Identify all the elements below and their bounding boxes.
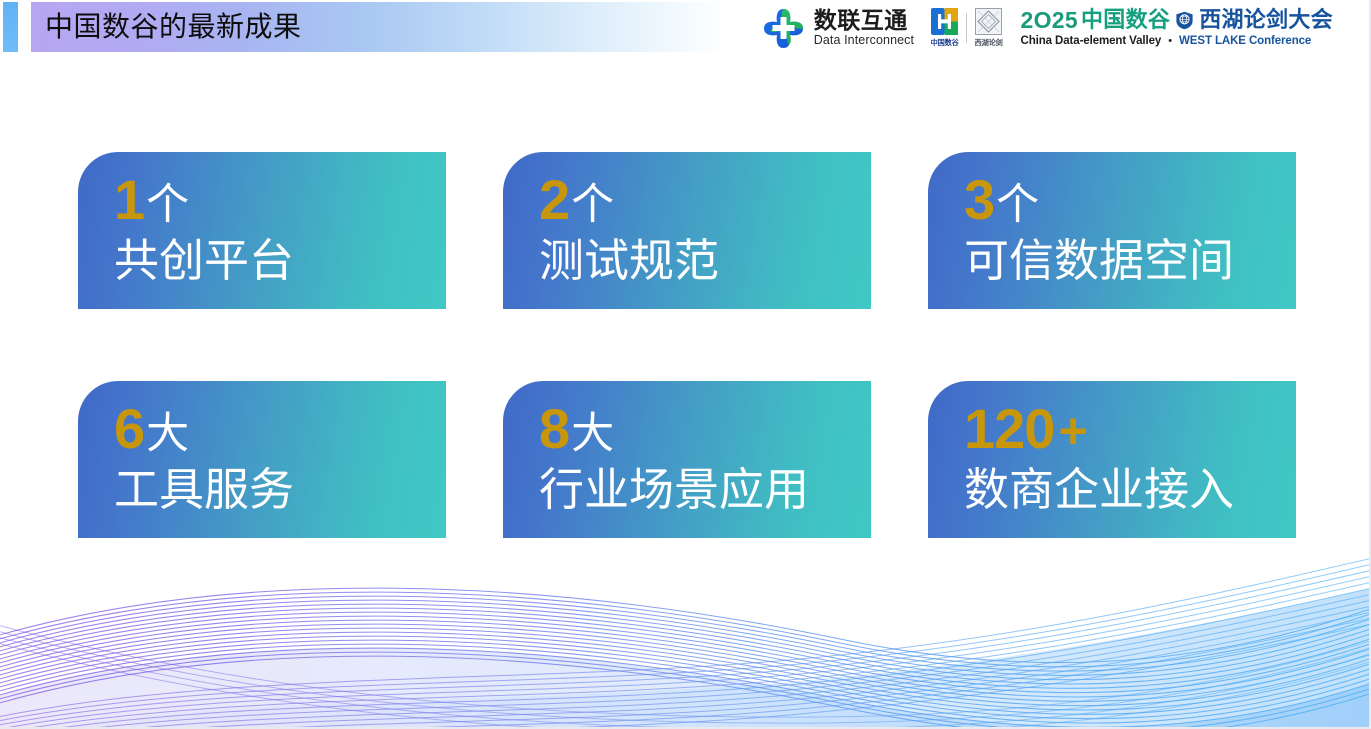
card-number-row: 1 个 bbox=[114, 172, 446, 228]
card-number-row: 6 大 bbox=[114, 401, 446, 457]
conference-subtitle-row: China Data-element Valley • WEST LAKE Co… bbox=[1021, 36, 1333, 48]
card-unit: + bbox=[1058, 406, 1087, 456]
card-label: 可信数据空间 bbox=[964, 236, 1296, 286]
card-label: 数商企业接入 bbox=[964, 465, 1296, 515]
di-name-en: Data Interconnect bbox=[814, 34, 914, 47]
card-label: 行业场景应用 bbox=[539, 465, 871, 515]
conference-title-row: 2O25 中国数谷 西湖论剑大会 bbox=[1021, 9, 1333, 32]
card-number-row: 120 + bbox=[964, 401, 1296, 457]
conference-subtitle-separator: • bbox=[1168, 36, 1172, 47]
conference-title-cn-2: 西湖论剑大会 bbox=[1199, 9, 1333, 31]
conference-year: 2O25 bbox=[1021, 9, 1078, 32]
card-number: 2 bbox=[539, 172, 569, 228]
globe-shield-icon bbox=[1175, 11, 1194, 30]
header-accent-bar bbox=[3, 2, 18, 52]
achievement-card: 1 个 共创平台 bbox=[78, 152, 446, 309]
card-number: 120 bbox=[964, 401, 1054, 457]
card-number-row: 2 个 bbox=[539, 172, 871, 228]
achievement-card: 120 + 数商企业接入 bbox=[928, 381, 1296, 538]
conference-title-cn-1: 中国数谷 bbox=[1081, 9, 1170, 31]
di-name-cn: 数联互通 bbox=[814, 9, 914, 32]
card-unit: 个 bbox=[146, 184, 189, 227]
data-interconnect-wordmark: 数联互通 Data Interconnect bbox=[814, 9, 914, 47]
conference-subtitle-en-2: WEST LAKE Conference bbox=[1179, 36, 1311, 48]
logo-zone: 数联互通 Data Interconnect 中国数谷 bbox=[760, 3, 1333, 53]
badge-label: 中国数谷 bbox=[931, 37, 959, 48]
wave-fill-band-1 bbox=[0, 647, 1371, 729]
decorative-wave-graphic bbox=[0, 529, 1371, 729]
wave-line-bundle bbox=[0, 547, 1371, 729]
wave-lines-svg bbox=[0, 529, 1371, 729]
card-number-row: 3 个 bbox=[964, 172, 1296, 228]
conference-subtitle-en-1: China Data-element Valley bbox=[1021, 36, 1162, 48]
seal-diamond-badge-icon bbox=[975, 8, 1002, 35]
card-unit: 大 bbox=[571, 413, 614, 456]
wave-fill-band-2 bbox=[0, 577, 1371, 729]
card-unit: 个 bbox=[571, 184, 614, 227]
card-number: 6 bbox=[114, 401, 144, 457]
slide-root: 中国数谷的最新成果 bbox=[0, 0, 1371, 729]
badge-china-data-valley: 中国数谷 bbox=[930, 8, 959, 48]
badge-west-lake: 西湖论剑 bbox=[974, 8, 1003, 48]
card-number: 3 bbox=[964, 172, 994, 228]
h-square-badge-icon bbox=[931, 8, 958, 35]
badge-separator bbox=[966, 13, 967, 43]
pinwheel-cross-logo-icon bbox=[760, 5, 808, 51]
card-label: 测试规范 bbox=[539, 236, 871, 286]
badge-label: 西湖论剑 bbox=[975, 37, 1003, 48]
achievement-card-grid: 1 个 共创平台 2 个 测试规范 3 个 可信数据空间 6 大 工具服务 bbox=[78, 152, 1296, 538]
achievement-card: 2 个 测试规范 bbox=[503, 152, 871, 309]
achievement-card: 6 大 工具服务 bbox=[78, 381, 446, 538]
conference-wordmark: 2O25 中国数谷 西湖论剑大会 China Data-element Vall… bbox=[1021, 9, 1333, 48]
card-label: 共创平台 bbox=[114, 236, 446, 286]
data-interconnect-logo: 数联互通 Data Interconnect bbox=[760, 5, 914, 51]
card-number-row: 8 大 bbox=[539, 401, 871, 457]
card-unit: 个 bbox=[996, 184, 1039, 227]
card-label: 工具服务 bbox=[114, 465, 446, 515]
card-unit: 大 bbox=[146, 413, 189, 456]
page-title: 中国数谷的最新成果 bbox=[45, 2, 302, 52]
achievement-card: 3 个 可信数据空间 bbox=[928, 152, 1296, 309]
card-number: 8 bbox=[539, 401, 569, 457]
slide-header: 中国数谷的最新成果 bbox=[0, 0, 1371, 56]
badge-group: 中国数谷 西湖论剑 bbox=[930, 8, 1003, 48]
card-number: 1 bbox=[114, 172, 144, 228]
achievement-card: 8 大 行业场景应用 bbox=[503, 381, 871, 538]
